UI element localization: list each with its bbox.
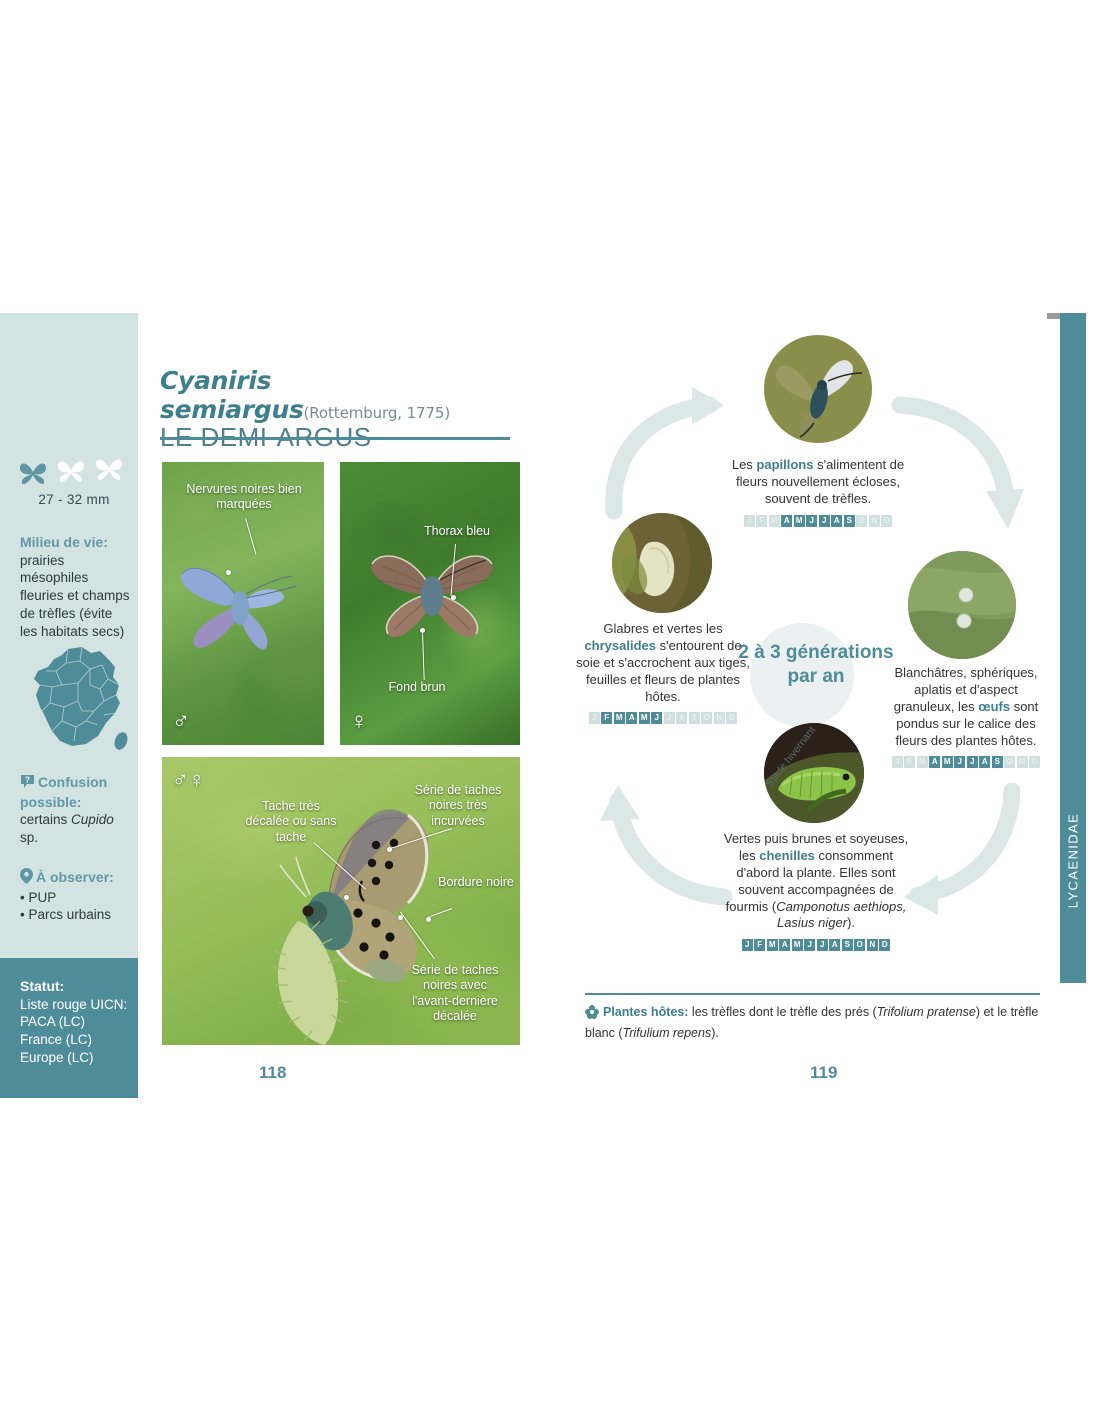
month-cell-A-7: A (676, 712, 687, 724)
leader-dot-female-1 (420, 628, 425, 633)
month-cell-O-9: O (1004, 756, 1015, 768)
month-cell-A-3: A (929, 756, 940, 768)
lifecycle-title: 2 à 3 générations par an (728, 641, 904, 689)
month-cell-J-6: J (819, 515, 830, 527)
month-cell-A-3: A (781, 515, 792, 527)
month-cell-N-10: N (1017, 756, 1028, 768)
month-cell-M-4: M (639, 712, 650, 724)
sex-symbol-male: ♂ (172, 710, 190, 734)
month-cell-A-3: A (626, 712, 637, 724)
grass-seedhead-illustration (246, 905, 396, 1045)
question-bubble-icon: ? (20, 774, 35, 794)
month-cell-M-4: M (794, 515, 805, 527)
stage-text-chrysalids: Glabres et vertes les chrysalides s'ento… (574, 621, 752, 724)
month-cell-O-9: O (856, 515, 867, 527)
wingspan-label: 27 - 32 mm (14, 492, 134, 507)
photo-adult-butterfly (764, 335, 872, 443)
photo-underside: ♂♀ Tache très décalée ou sans tache Séri… (162, 757, 520, 1045)
stage-text-eggs: Blanchâtres, sphériques, aplatis et d'as… (890, 665, 1042, 768)
sex-symbol-both: ♂♀ (172, 769, 205, 791)
month-cell-F-1: F (601, 712, 612, 724)
month-cell-F-1: F (904, 756, 915, 768)
status-line-1: PACA (LC) (20, 1013, 132, 1031)
month-cell-S-8: S (992, 756, 1003, 768)
month-cell-M-2: M (614, 712, 625, 724)
leader-dot-female-0 (451, 595, 456, 600)
stage-adults-highlight: papillons (756, 457, 813, 472)
month-cell-D-11: D (881, 515, 892, 527)
host-plants-label: Plantes hôtes: (603, 1005, 688, 1019)
confusion-text: certains Cupido sp. (20, 811, 132, 847)
month-strip-eggs: JFMAMJJASOND (890, 756, 1042, 768)
month-cell-J-5: J (806, 515, 817, 527)
title-divider (160, 437, 510, 440)
flower-icon (585, 1005, 599, 1025)
status-block: Statut: Liste rouge UICN: PACA (LC) Fran… (20, 978, 132, 1067)
winter-stage-label: Stade hivernant (750, 717, 870, 777)
butterfly-male-illustration (168, 544, 318, 664)
habitat-text: prairies mésophiles fleuries et champs d… (20, 552, 132, 641)
stage-chrysalids-highlight: chrysalides (584, 638, 656, 653)
family-tab: LYCAENIDAE (1060, 313, 1086, 983)
leader-dot-underside-1 (387, 847, 392, 852)
photo-male: Nervures noires bien marquées ♂ (162, 462, 324, 745)
sex-symbol-female: ♀ (350, 710, 368, 734)
page-number-left: 118 (259, 1063, 286, 1083)
habitat-heading: Milieu de vie: (20, 534, 132, 552)
arrow-chrysalid-to-adult (600, 383, 740, 523)
arrow-caterpillar-to-chrysalid (598, 781, 738, 921)
month-cell-S-8: S (842, 939, 853, 951)
month-cell-J-6: J (817, 939, 828, 951)
month-cell-A-7: A (979, 756, 990, 768)
confusion-block: ? Confusion possible: certains Cupido sp… (20, 774, 132, 847)
page-number-right: 119 (810, 1063, 837, 1083)
observe-item-1: • Parcs urbains (20, 906, 132, 924)
stage-text-adults: Les papillons s'alimentent de fleurs nou… (720, 457, 916, 527)
stage-caterpillars-highlight: chenilles (759, 848, 815, 863)
month-strip-adults: JFMAMJJASOND (720, 515, 916, 527)
month-cell-J-6: J (664, 712, 675, 724)
month-cell-O-9: O (854, 939, 865, 951)
family-tab-label: LYCAENIDAE (1066, 766, 1081, 956)
month-strip-caterpillars: JFMAMJJASOND (720, 939, 912, 951)
observe-block: À observer: • PUP • Parcs urbains (20, 868, 132, 924)
month-cell-F-1: F (756, 515, 767, 527)
month-cell-A-7: A (829, 939, 840, 951)
leader-dot-underside-2 (426, 917, 431, 922)
month-cell-D-11: D (726, 712, 737, 724)
butterfly-icon-filled (18, 460, 48, 486)
observe-heading-row: À observer: (20, 868, 132, 889)
photo-eggs (908, 551, 1016, 659)
month-cell-J-5: J (804, 939, 815, 951)
host-plants-divider (585, 993, 1040, 995)
observe-item-0: • PUP (20, 889, 132, 907)
butterfly-icon-outline-2 (94, 456, 124, 482)
callout-underside-2: Bordure noire (438, 875, 514, 890)
month-cell-N-10: N (869, 515, 880, 527)
month-cell-D-11: D (879, 939, 890, 951)
guide-page-spread: 27 - 32 mm Milieu de vie: prairies mésop… (0, 0, 1100, 1422)
authority: (Rottemburg, 1775) (304, 404, 451, 422)
month-cell-F-1: F (754, 939, 765, 951)
callout-underside-0: Tache très décalée ou sans tache (240, 799, 342, 845)
butterfly-icon-outline-1 (56, 458, 86, 484)
month-cell-J-0: J (892, 756, 903, 768)
stage-text-caterpillars: Vertes puis brunes et soyeuses, les chen… (720, 831, 912, 951)
butterfly-female-illustration (354, 528, 514, 658)
month-cell-M-4: M (942, 756, 953, 768)
observe-heading: À observer: (36, 869, 114, 885)
month-cell-J-6: J (967, 756, 978, 768)
status-line-0: Liste rouge UICN: (20, 996, 132, 1014)
month-cell-S-8: S (844, 515, 855, 527)
habitat-block: Milieu de vie: prairies mésophiles fleur… (20, 534, 132, 641)
leader-dot-underside-3 (398, 915, 403, 920)
month-cell-N-10: N (714, 712, 725, 724)
confusion-heading-row: ? Confusion possible: (20, 774, 132, 811)
month-cell-J-0: J (589, 712, 600, 724)
stage-eggs-highlight: œufs (978, 699, 1010, 714)
callout-male-0: Nervures noires bien marquées (180, 482, 308, 513)
month-cell-J-0: J (744, 515, 755, 527)
month-cell-O-9: O (701, 712, 712, 724)
callout-underside-3: Série de taches noires avec l'avant-dern… (402, 963, 508, 1024)
stage-chrysalids-before: Glabres et vertes les (603, 621, 722, 636)
month-cell-J-5: J (651, 712, 662, 724)
month-cell-N-10: N (867, 939, 878, 951)
month-cell-M-2: M (917, 756, 928, 768)
photo-chrysalid (612, 513, 712, 613)
month-cell-A-7: A (831, 515, 842, 527)
map-pin-icon (20, 868, 33, 889)
month-cell-M-2: M (767, 939, 778, 951)
month-cell-M-2: M (769, 515, 780, 527)
month-cell-J-0: J (742, 939, 753, 951)
month-cell-S-8: S (689, 712, 700, 724)
leader-dot-underside-0 (344, 895, 349, 900)
france-distribution-map (16, 641, 136, 759)
month-cell-J-5: J (954, 756, 965, 768)
status-heading: Statut: (20, 978, 132, 996)
month-cell-M-4: M (792, 939, 803, 951)
leader-dot-male-0 (226, 570, 231, 575)
photo-female: Thorax bleu Fond brun ♀ (340, 462, 520, 745)
status-line-2: France (LC) (20, 1031, 132, 1049)
callout-female-1: Fond brun (362, 680, 472, 695)
month-cell-D-11: D (1029, 756, 1040, 768)
month-cell-A-3: A (779, 939, 790, 951)
wingspan-butterfly-icons (18, 458, 133, 490)
scientific-name: Cyaniris semiargus(Rottemburg, 1775) (160, 366, 520, 424)
status-line-3: Europe (LC) (20, 1049, 132, 1067)
svg-text:?: ? (25, 775, 30, 784)
lifecycle-diagram: 2 à 3 générations par an Les papillons s… (560, 313, 1060, 1103)
callout-female-0: Thorax bleu (402, 524, 512, 539)
callout-underside-1: Série de taches noires très incurvées (408, 783, 508, 829)
stage-adults-before: Les (732, 457, 757, 472)
host-plants: Plantes hôtes: les trèfles dont le trèfl… (585, 1004, 1045, 1043)
month-strip-chrysalids: JFMAMJJASOND (574, 712, 752, 724)
